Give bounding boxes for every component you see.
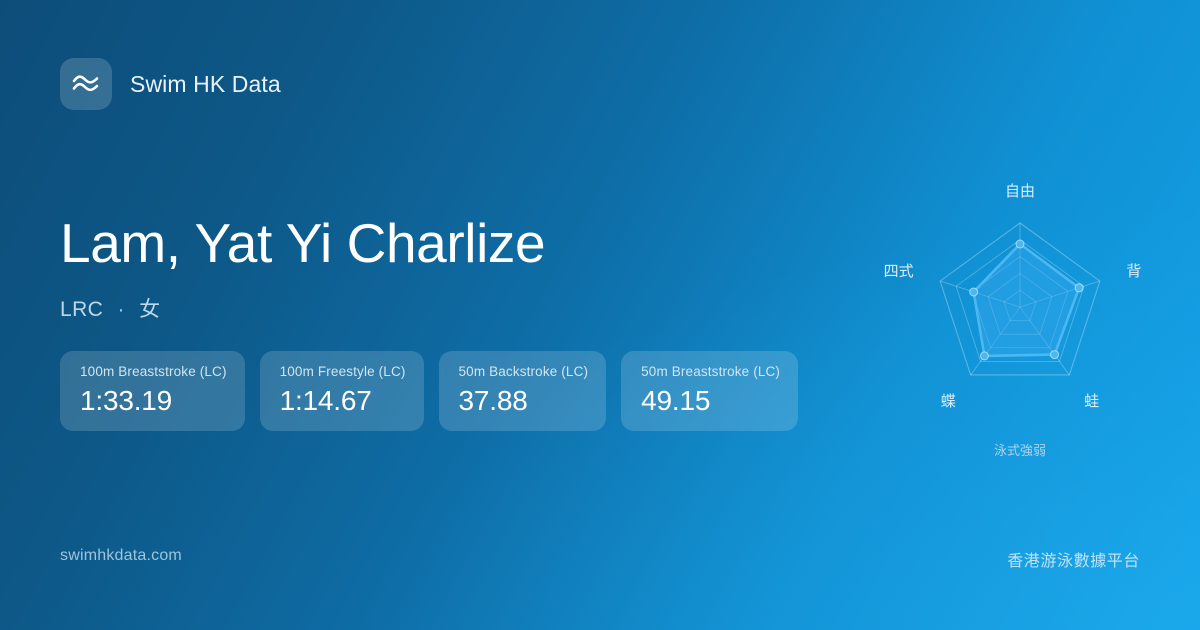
stat-label: 100m Breaststroke (LC) [80,364,227,379]
radar-axis-label: 四式 [884,263,914,280]
stat-card-list: 100m Breaststroke (LC) 1:33.19 100m Free… [60,351,798,431]
meta-separator: · [117,298,124,321]
athlete-gender: 女 [139,298,160,321]
stat-label: 50m Breaststroke (LC) [641,364,780,379]
stat-value: 1:33.19 [80,385,227,417]
radar-data-point [1075,284,1083,292]
stat-label: 50m Backstroke (LC) [459,364,589,379]
radar-axis-label: 蛙 [1084,393,1099,410]
stat-value: 49.15 [641,385,780,417]
radar-data-point [980,352,988,360]
radar-data-point [1051,351,1059,359]
stat-value: 37.88 [459,385,589,417]
stat-card: 100m Breaststroke (LC) 1:33.19 [60,351,245,431]
stat-label: 100m Freestyle (LC) [280,364,406,379]
radar-data-point [970,288,978,296]
footer-tagline: 香港游泳數據平台 [1007,547,1140,571]
radar-series-area [974,244,1079,356]
footer-site-url[interactable]: swimhkdata.com [60,547,182,565]
athlete-meta: LRC · 女 [60,293,545,323]
radar-axis-label: 背 [1126,263,1141,280]
stat-value: 1:14.67 [280,385,406,417]
stat-card: 100m Freestyle (LC) 1:14.67 [260,351,424,431]
radar-axis-label: 蝶 [941,393,956,410]
brand-name: Swim HK Data [130,71,281,98]
wave-icon [60,58,112,110]
athlete-share-card: Swim HK Data Lam, Yat Yi Charlize LRC · … [0,0,1200,630]
athlete-name: Lam, Yat Yi Charlize [60,216,545,271]
stat-card: 50m Backstroke (LC) 37.88 [439,351,607,431]
radar-data-point [1016,240,1024,248]
stat-card: 50m Breaststroke (LC) 49.15 [621,351,798,431]
athlete-identity: Lam, Yat Yi Charlize LRC · 女 [60,216,545,323]
radar-caption: 泳式強弱 [994,443,1046,458]
athlete-club: LRC [60,298,103,321]
brand: Swim HK Data [60,58,281,110]
stroke-strength-radar-chart: 自由背蛙蝶四式 泳式強弱 [870,170,1170,470]
radar-axis-label: 自由 [1005,183,1035,200]
